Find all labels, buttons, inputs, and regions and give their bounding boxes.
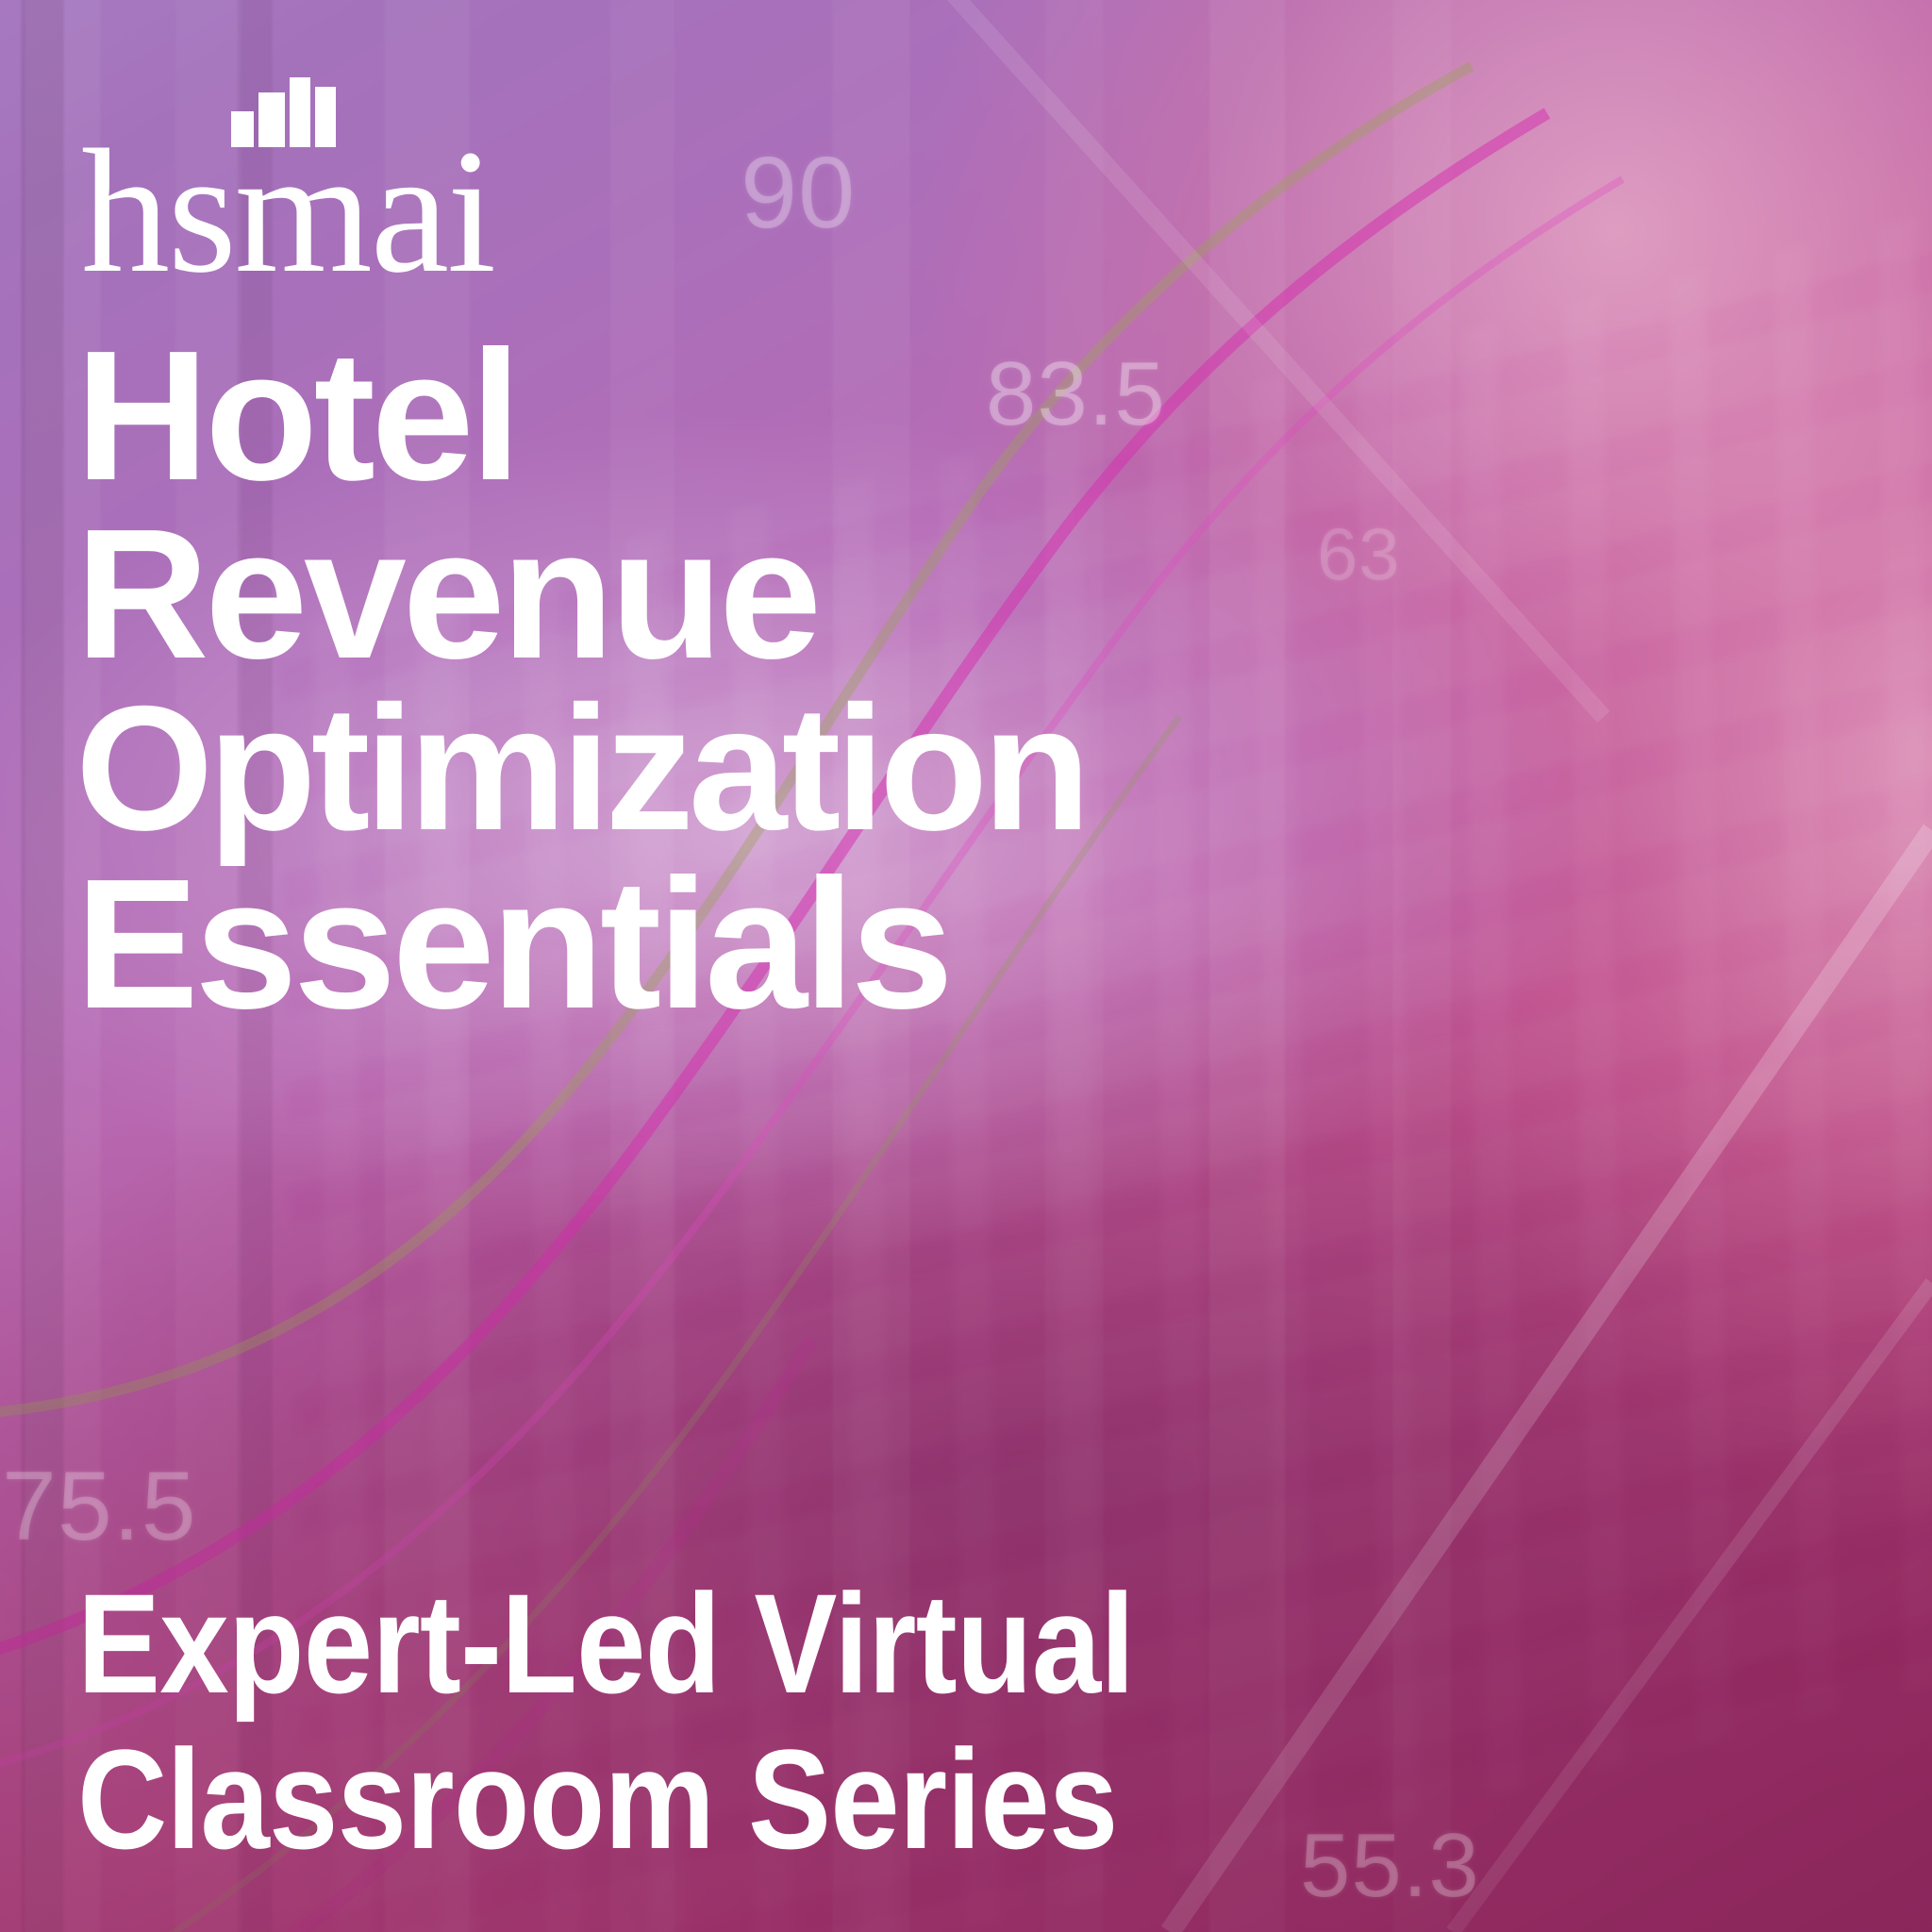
page-subtitle: Expert-Led Virtual Classroom Series — [77, 1566, 1651, 1877]
hsmai-wordmark: hsmai — [81, 123, 494, 300]
title-line-2: Revenue — [75, 505, 1866, 683]
title-line-4: Essentials — [75, 855, 1866, 1033]
subtitle-line-2: Classroom Series — [77, 1722, 1651, 1877]
title-line-3: Optimization — [75, 683, 1866, 854]
hsmai-logo: hsmai — [81, 74, 534, 291]
poster-canvas: 90 83.5 75.5 55.3 63 hsmai Hotel Revenue… — [0, 0, 1932, 1932]
poster-content: hsmai Hotel Revenue Optimization Essenti… — [0, 0, 1932, 1932]
page-title: Hotel Revenue Optimization Essentials — [75, 326, 1866, 1033]
title-line-1: Hotel — [75, 326, 1866, 505]
layout-spacer — [81, 1033, 1866, 1566]
subtitle-line-1: Expert-Led Virtual — [77, 1566, 1651, 1722]
